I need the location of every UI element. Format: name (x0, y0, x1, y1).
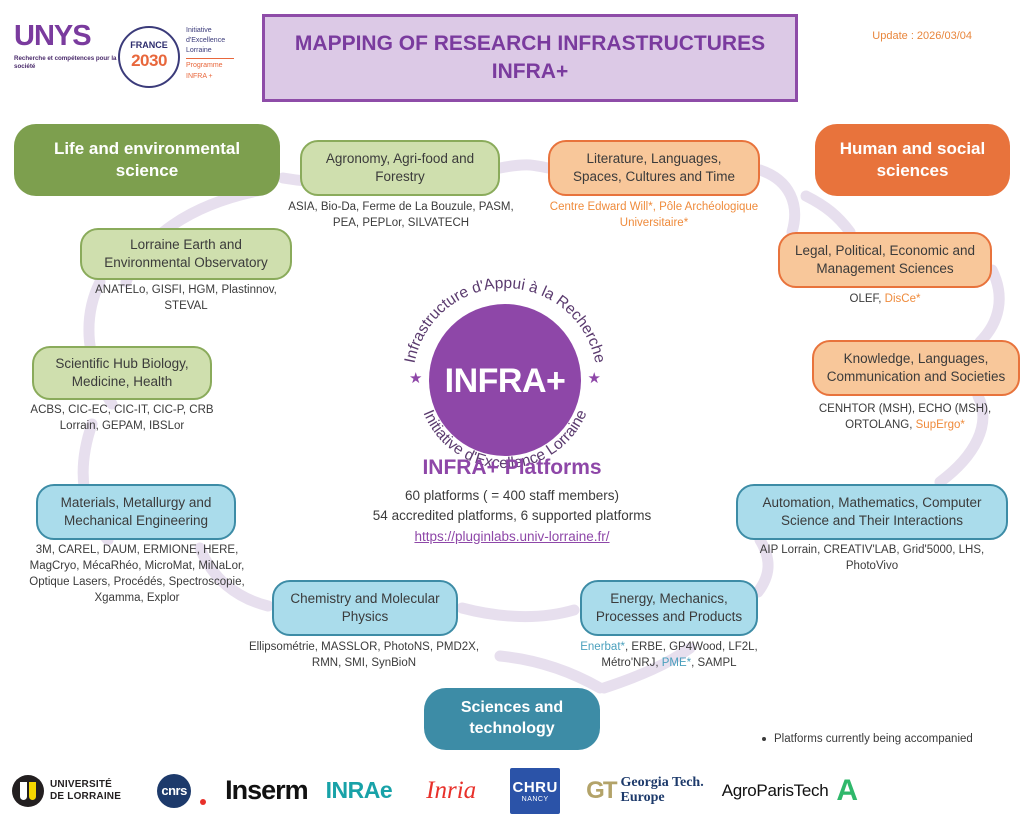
inrae-wordmark: INRAe (326, 777, 393, 804)
category-sciences-and-technology[interactable]: Sciences and technology (424, 688, 600, 750)
node-agronomy[interactable]: Agronomy, Agri-food and Forestry (300, 140, 500, 196)
agroparistech-wordmark: AgroParisTech (722, 781, 829, 801)
unys-wordmark: UNYS (14, 22, 124, 51)
ul-line-1: UNIVERSITÉ (50, 779, 121, 791)
platforms-knowledge: CENHTOR (MSH), ECHO (MSH), ORTOLANG, Sup… (786, 402, 1024, 434)
platform-highlight: Enerbat* (580, 641, 625, 653)
node-legal-political-economic[interactable]: Legal, Political, Economic and Managemen… (778, 232, 992, 288)
node-automation-mathematics[interactable]: Automation, Mathematics, Computer Scienc… (736, 484, 1008, 540)
france-2030-logo: FRANCE 2030 Initiative d'Excellence Lorr… (118, 18, 248, 96)
node-chemistry-molecular-physics[interactable]: Chemistry and Molecular Physics (272, 580, 458, 636)
unys-logo: UNYS Recherche et compétences pour la so… (14, 22, 124, 72)
gt-line-1: Georgia Tech. (620, 776, 703, 791)
node-literature-languages[interactable]: Literature, Languages, Spaces, Cultures … (548, 140, 760, 196)
f2030-infra: INFRA + (186, 72, 248, 82)
platform-text: CENHTOR (MSH), ECHO (MSH), ORTOLANG, (819, 403, 991, 431)
ul-line-2: DE LORRAINE (50, 791, 121, 803)
platform-highlight: DisCe* (885, 293, 921, 305)
georgia-tech-text: Georgia Tech. Europe (620, 776, 703, 805)
legend-label: Platforms currently being accompanied (774, 733, 973, 745)
inserm-wordmark: Inserm (225, 775, 308, 806)
logo-inrae: INRAe (326, 777, 393, 804)
star-left-icon: ★ (409, 369, 422, 387)
f2030-line-2: d'Excellence (186, 36, 248, 46)
partner-logos: UNIVERSITÉ DE LORRAINE cnrs Inserm INRAe… (0, 762, 1024, 819)
update-date: Update : 2026/03/04 (872, 30, 972, 42)
platform-text-2: , SAMPL (691, 657, 736, 669)
infra-plus-wordmark: INFRA+ (391, 362, 619, 401)
logo-agroparistech: AgroParisTech (722, 781, 829, 801)
inserm-dot-icon (200, 799, 206, 805)
platforms-summary: INFRA+ Platforms 60 platforms ( = 400 st… (352, 456, 672, 546)
logo-universite-de-lorraine: UNIVERSITÉ DE LORRAINE (12, 775, 121, 807)
chru-sub: NANCY (522, 796, 549, 803)
platforms-link[interactable]: https://pluginlabs.univ-lorraine.fr/ (414, 529, 609, 544)
logo-cnrs: cnrs (157, 774, 191, 808)
france-2030-label: FRANCE (122, 40, 176, 50)
platforms-breakdown: 54 accredited platforms, 6 supported pla… (352, 506, 672, 526)
logo-chru-nancy: CHRU NANCY (510, 768, 560, 814)
node-knowledge-languages[interactable]: Knowledge, Languages, Communication and … (812, 340, 1020, 396)
platform-highlight: SupErgo* (916, 419, 965, 431)
france-2030-caption: Initiative d'Excellence Lorraine Program… (186, 26, 248, 82)
logo-green-partner: A (836, 774, 858, 808)
f2030-programme: Programme (186, 61, 248, 71)
cnrs-mark: cnrs (157, 774, 191, 808)
page-title: MAPPING OF RESEARCH INFRASTRUCTURES INFR… (265, 30, 795, 87)
node-energy-mechanics[interactable]: Energy, Mechanics, Processes and Product… (580, 580, 758, 636)
gt-line-2: Europe (620, 791, 703, 806)
category-life-and-environmental-science[interactable]: Life and environmental science (14, 124, 280, 196)
node-scientific-hub[interactable]: Scientific Hub Biology, Medicine, Health (32, 346, 212, 400)
platforms-materials: 3M, CAREL, DAUM, ERMIONE, HERE, MagCryo,… (14, 543, 260, 606)
universite-de-lorraine-mark-icon (12, 775, 44, 807)
platforms-chemistry: Ellipsométrie, MASSLOR, PhotoNS, PMD2X, … (248, 640, 480, 672)
platforms-title: INFRA+ Platforms (352, 456, 672, 480)
universite-de-lorraine-text: UNIVERSITÉ DE LORRAINE (50, 779, 121, 802)
platforms-lorraine: ANATELo, GISFI, HGM, Plastinnov, STEVAL (82, 283, 290, 315)
logo-inria: Inria (426, 777, 476, 805)
platforms-literature: Centre Edward Will*, Pôle Archéologique … (536, 200, 772, 232)
france-2030-year: 2030 (122, 51, 176, 71)
logo-georgia-tech-europe: GT Georgia Tech. Europe (586, 776, 704, 805)
f2030-line-1: Initiative (186, 26, 248, 36)
logo-inserm: Inserm (225, 775, 314, 806)
georgia-tech-mark-icon: GT (586, 777, 615, 805)
unys-tagline: Recherche et compétences pour la société (14, 55, 124, 72)
green-partner-mark-icon: A (836, 774, 858, 808)
f2030-line-3: Lorraine (186, 46, 248, 56)
inria-wordmark: Inria (426, 777, 476, 805)
platform-highlight: Centre Edward Will*, Pôle Archéologique … (550, 201, 758, 229)
node-lorraine-earth-observatory[interactable]: Lorraine Earth and Environmental Observa… (80, 228, 292, 280)
legend: Platforms currently being accompanied (762, 733, 973, 745)
platforms-legal: OLEF, DisCe* (778, 292, 992, 308)
chru-main: CHRU (512, 779, 557, 796)
platform-text: OLEF, (850, 293, 885, 305)
legend-bullet-icon (762, 737, 766, 741)
star-right-icon: ★ (588, 369, 601, 387)
page-title-box: MAPPING OF RESEARCH INFRASTRUCTURES INFR… (262, 14, 798, 102)
platforms-hub: ACBS, CIC-EC, CIC-IT, CIC-P, CRB Lorrain… (16, 403, 228, 435)
f2030-divider (186, 58, 234, 59)
platforms-agronomy: ASIA, Bio-Da, Ferme de La Bouzule, PASM,… (288, 200, 514, 232)
platform-highlight-2: PME* (662, 657, 691, 669)
category-human-and-social-sciences[interactable]: Human and social sciences (815, 124, 1010, 196)
platforms-count: 60 platforms ( = 400 staff members) (352, 486, 672, 506)
platforms-energy: Enerbat*, ERBE, GP4Wood, LF2L, Métro'NRJ… (556, 640, 782, 672)
node-materials-metallurgy[interactable]: Materials, Metallurgy and Mechanical Eng… (36, 484, 236, 540)
chru-mark: CHRU NANCY (510, 768, 560, 814)
platforms-automation: AIP Lorrain, CREATIV'LAB, Grid'5000, LHS… (752, 543, 992, 575)
